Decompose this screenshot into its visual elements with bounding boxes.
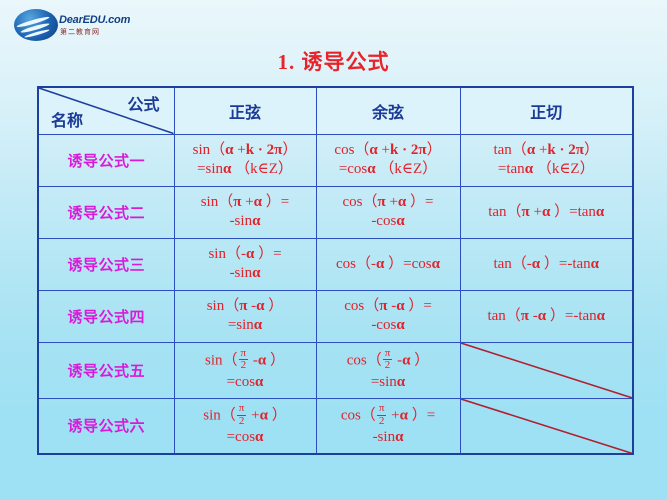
row-cosine-cell: cos（π2 +α ）=-sinα xyxy=(316,398,460,454)
formula-cosine: cos（π +α ）=-cosα xyxy=(317,193,460,231)
row-tangent-cell: tan（-α ）=-tanα xyxy=(460,238,633,290)
formula-cosine: cos（α +k · 2π）=cosα （k∈Z） xyxy=(317,141,460,179)
row-tangent-cell-empty xyxy=(460,342,633,398)
row-name-label: 诱导公式一 xyxy=(67,154,145,170)
formula-sine: sin（-α ）=-sinα xyxy=(175,245,316,283)
row-sine-cell: sin（π +α ）=-sinα xyxy=(174,186,316,238)
row-cosine-cell: cos（π +α ）=-cosα xyxy=(316,186,460,238)
formula-sine: sin（π2 +α ）=cosα xyxy=(175,404,316,447)
table-row: 诱导公式四 sin（π -α ）=sinα cos（π -α ）=-cosα t… xyxy=(38,290,633,342)
formula-sine: sin（π -α ）=sinα xyxy=(175,297,316,335)
row-name-label: 诱导公式四 xyxy=(67,310,145,326)
row-name-cell: 诱导公式五 xyxy=(38,342,174,398)
formula-tangent: tan（-α ）=-tanα xyxy=(461,255,633,274)
row-name-label: 诱导公式五 xyxy=(67,364,145,380)
logo-disc-icon xyxy=(14,9,58,41)
row-tangent-cell: tan（π +α ）=tanα xyxy=(460,186,633,238)
row-name-label: 诱导公式二 xyxy=(67,206,145,222)
row-name-label: 诱导公式三 xyxy=(67,258,145,274)
row-name-cell: 诱导公式一 xyxy=(38,134,174,186)
header-cosine-label: 余弦 xyxy=(372,105,404,122)
table-row: 诱导公式五 sin（π2 -α ）=cosα cos（π2 -α ）=sinα xyxy=(38,342,633,398)
slide-canvas: DearEDU.com 第二教育网 1. 诱导公式 公式 名称 正弦 xyxy=(0,0,667,500)
row-sine-cell: sin（π -α ）=sinα xyxy=(174,290,316,342)
page-title: 1. 诱导公式 xyxy=(0,46,667,76)
formula-cosine: cos（-α ）=cosα xyxy=(317,255,460,274)
formula-tangent: tan（π -α ）=-tanα xyxy=(461,307,633,326)
strikethrough-diagonal-icon xyxy=(461,399,633,454)
corner-label-name: 名称 xyxy=(51,107,83,131)
row-name-cell: 诱导公式二 xyxy=(38,186,174,238)
header-tangent-label: 正切 xyxy=(530,105,562,122)
formula-sine: sin（π +α ）=-sinα xyxy=(175,193,316,231)
corner-split-cell: 公式 名称 xyxy=(38,87,174,134)
table-row: 诱导公式二 sin（π +α ）=-sinα cos（π +α ）=-cosα … xyxy=(38,186,633,238)
row-cosine-cell: cos（π2 -α ）=sinα xyxy=(316,342,460,398)
row-tangent-cell-empty xyxy=(460,398,633,454)
row-cosine-cell: cos（α +k · 2π）=cosα （k∈Z） xyxy=(316,134,460,186)
header-cosine: 余弦 xyxy=(316,87,460,134)
formula-cosine: cos（π -α ）=-cosα xyxy=(317,297,460,335)
header-tangent: 正切 xyxy=(460,87,633,134)
logo-sub-text: 第二教育网 xyxy=(60,27,100,37)
table-row: 诱导公式一 sin（α +k · 2π）=sinα （k∈Z） cos（α +k… xyxy=(38,134,633,186)
formula-tangent: tan（π +α ）=tanα xyxy=(461,203,633,222)
formula-cosine: cos（π2 -α ）=sinα xyxy=(317,349,460,392)
corner-label-formula: 公式 xyxy=(127,91,159,115)
logo-brand-text: DearEDU.com xyxy=(59,14,130,26)
row-sine-cell: sin（α +k · 2π）=sinα （k∈Z） xyxy=(174,134,316,186)
header-sine-label: 正弦 xyxy=(229,105,261,122)
row-name-cell: 诱导公式三 xyxy=(38,238,174,290)
row-name-cell: 诱导公式四 xyxy=(38,290,174,342)
formula-tangent: tan（α +k · 2π）=tanα （k∈Z） xyxy=(461,141,633,179)
row-name-label: 诱导公式六 xyxy=(67,419,145,435)
table-header-row: 公式 名称 正弦 余弦 正切 xyxy=(38,87,633,134)
row-cosine-cell: cos（π -α ）=-cosα xyxy=(316,290,460,342)
row-tangent-cell: tan（α +k · 2π）=tanα （k∈Z） xyxy=(460,134,633,186)
row-tangent-cell: tan（π -α ）=-tanα xyxy=(460,290,633,342)
formula-cosine: cos（π2 +α ）=-sinα xyxy=(317,404,460,447)
row-sine-cell: sin（π2 -α ）=cosα xyxy=(174,342,316,398)
table-row: 诱导公式三 sin（-α ）=-sinα cos（-α ）=cosα tan（-… xyxy=(38,238,633,290)
header-sine: 正弦 xyxy=(174,87,316,134)
row-sine-cell: sin（-α ）=-sinα xyxy=(174,238,316,290)
formula-sine: sin（π2 -α ）=cosα xyxy=(175,349,316,392)
formula-sine: sin（α +k · 2π）=sinα （k∈Z） xyxy=(175,141,316,179)
induction-formula-table: 公式 名称 正弦 余弦 正切 诱导公式一 sin（α + xyxy=(37,86,634,455)
row-sine-cell: sin（π2 +α ）=cosα xyxy=(174,398,316,454)
table-row: 诱导公式六 sin（π2 +α ）=cosα cos（π2 +α ）=-sinα xyxy=(38,398,633,454)
dearedu-logo: DearEDU.com 第二教育网 xyxy=(14,8,136,42)
strikethrough-diagonal-icon xyxy=(461,343,633,398)
row-name-cell: 诱导公式六 xyxy=(38,398,174,454)
row-cosine-cell: cos（-α ）=cosα xyxy=(316,238,460,290)
